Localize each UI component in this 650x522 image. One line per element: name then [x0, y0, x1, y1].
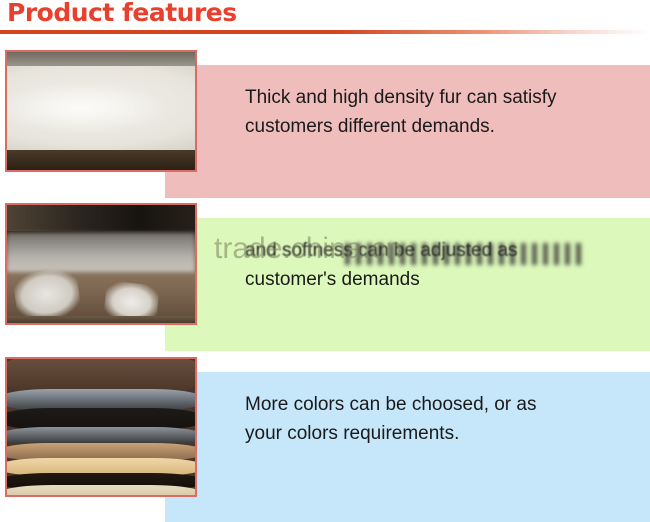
feature-text-1-line-1: Thick and high density fur can satisfy	[245, 83, 645, 112]
feature-text-1: Thick and high density fur can satisfy c…	[245, 83, 645, 141]
feature-row-1: Thick and high density fur can satisfy c…	[0, 45, 650, 203]
photo-bottom-shadow	[7, 150, 195, 170]
feature-row-3: More colors can be choosed, or as your c…	[0, 352, 650, 522]
brown-white-pelt-photo[interactable]	[5, 203, 197, 325]
feature-text-3-line-1: More colors can be choosed, or as	[245, 390, 645, 419]
photo-blur-overlay	[7, 233, 195, 272]
multicolor-fur-stack-photo[interactable]	[5, 357, 197, 497]
thick-white-fur-photo[interactable]	[5, 50, 197, 172]
feature-text-2-line-2: customer's demands	[245, 265, 645, 294]
feature-row-2: and softness can be adjusted as customer…	[0, 198, 650, 356]
pelt-band-8	[5, 485, 197, 497]
feature-text-3: More colors can be choosed, or as your c…	[245, 390, 645, 448]
page-header: Product features	[0, 0, 650, 36]
page-title: Product features	[7, 0, 237, 27]
title-underline-divider	[0, 30, 650, 34]
fur-photo-content	[7, 52, 195, 170]
feature-text-1-line-2: customers different demands.	[245, 112, 645, 141]
photo-floor-edge	[7, 316, 195, 323]
feature-panel-3: More colors can be choosed, or as your c…	[165, 372, 650, 522]
photo-top-shadow	[7, 52, 195, 66]
fur-photo-content	[7, 359, 195, 495]
photo-highlight	[5, 73, 197, 144]
site-watermark: trade.china.cn	[214, 232, 402, 266]
feature-panel-1: Thick and high density fur can satisfy c…	[165, 65, 650, 198]
photo-white-patch-left	[12, 267, 82, 323]
feature-text-3-line-2: your colors requirements.	[245, 419, 645, 448]
fur-photo-content	[7, 205, 195, 323]
photo-dark-region	[7, 205, 195, 231]
